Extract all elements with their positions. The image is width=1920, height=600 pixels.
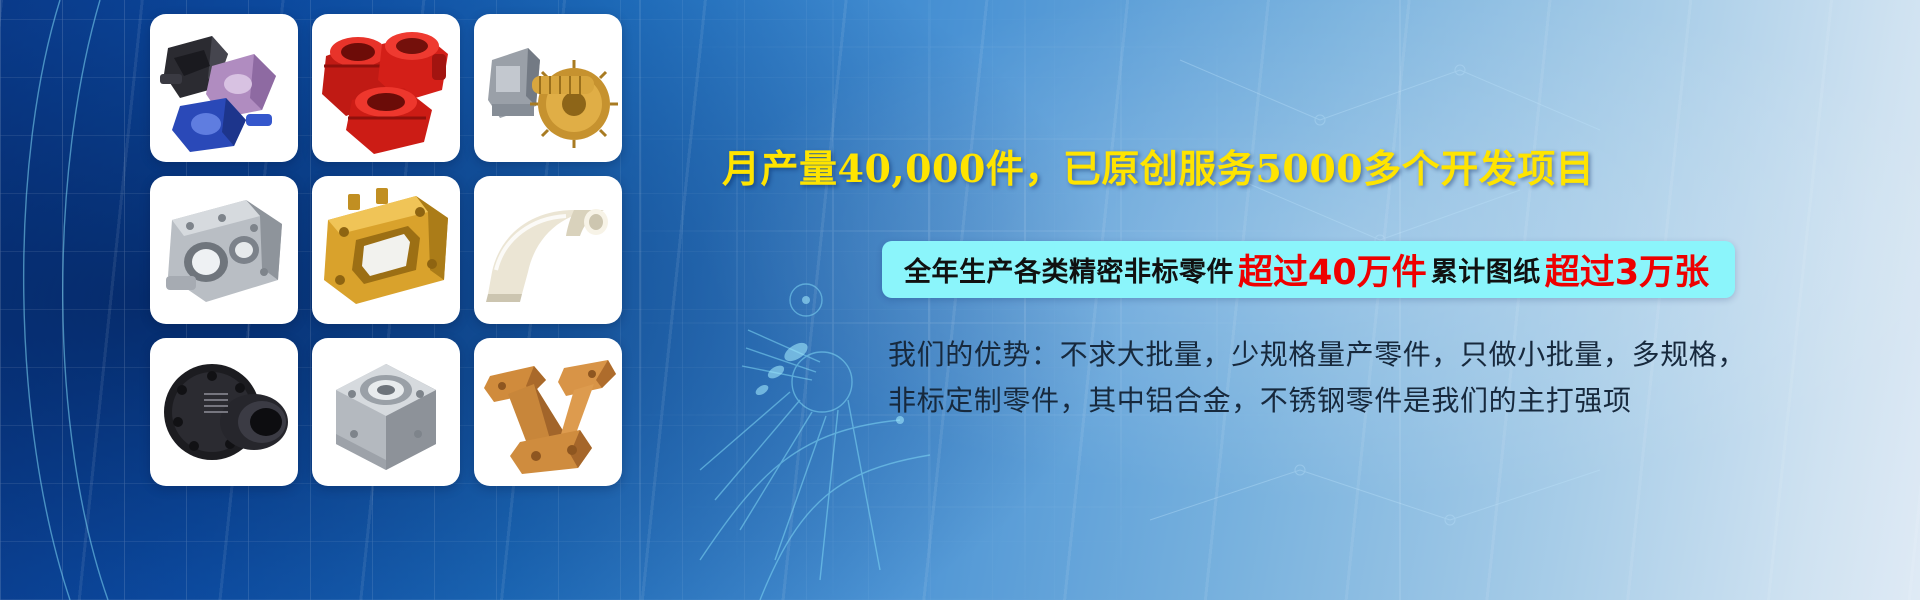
red-anodized-cylinders-icon <box>312 14 460 162</box>
band-emphasis-2: 超过3万张 <box>1541 244 1713 295</box>
gallery-item-black-anodized-hub-nozzle[interactable] <box>150 338 298 486</box>
gallery-item-machined-aluminum-brackets[interactable] <box>150 14 298 162</box>
gold-anodized-fixture-plate-icon <box>312 176 460 324</box>
gallery-item-aluminum-gearbox-housing[interactable] <box>150 176 298 324</box>
black-anodized-hub-nozzle-icon <box>150 338 298 486</box>
stainless-cube-manifold-icon <box>312 338 460 486</box>
promotional-banner: 月产量40,000件，已原创服务5000多个开发项目 全年生产各类精密非标零件 … <box>0 0 1920 600</box>
gallery-item-copper-support-arm[interactable] <box>474 338 622 486</box>
gallery-item-stainless-cube-manifold[interactable] <box>312 338 460 486</box>
machined-aluminum-brackets-icon <box>150 14 298 162</box>
paragraph-line-2: 非标定制零件，其中铝合金，不锈钢零件是我们的主打强项 <box>888 378 1888 424</box>
gallery-item-brass-worm-gear-assembly[interactable] <box>474 14 622 162</box>
highlight-band: 全年生产各类精密非标零件 超过40万件 累计图纸 超过3万张 <box>882 241 1735 298</box>
gallery-item-gold-anodized-fixture-plate[interactable] <box>312 176 460 324</box>
product-gallery <box>150 14 622 486</box>
band-text-2: 累计图纸 <box>1431 250 1541 289</box>
copper-support-arm-icon <box>474 338 622 486</box>
band-emphasis-1: 超过40万件 <box>1234 244 1431 295</box>
gallery-item-red-anodized-cylinders[interactable] <box>312 14 460 162</box>
band-text-1: 全年生产各类精密非标零件 <box>904 250 1234 289</box>
brass-worm-gear-assembly-icon <box>474 14 622 162</box>
paragraph-line-1: 我们的优势：不求大批量，少规格量产零件，只做小批量，多规格， <box>888 332 1888 378</box>
banner-paragraph: 我们的优势：不求大批量，少规格量产零件，只做小批量，多规格， 非标定制零件，其中… <box>888 332 1888 424</box>
banner-headline: 月产量40,000件，已原创服务5000多个开发项目 <box>722 138 1902 193</box>
aluminum-gearbox-housing-icon <box>150 176 298 324</box>
gallery-item-white-plastic-curved-shell[interactable] <box>474 176 622 324</box>
white-plastic-curved-shell-icon <box>474 176 622 324</box>
